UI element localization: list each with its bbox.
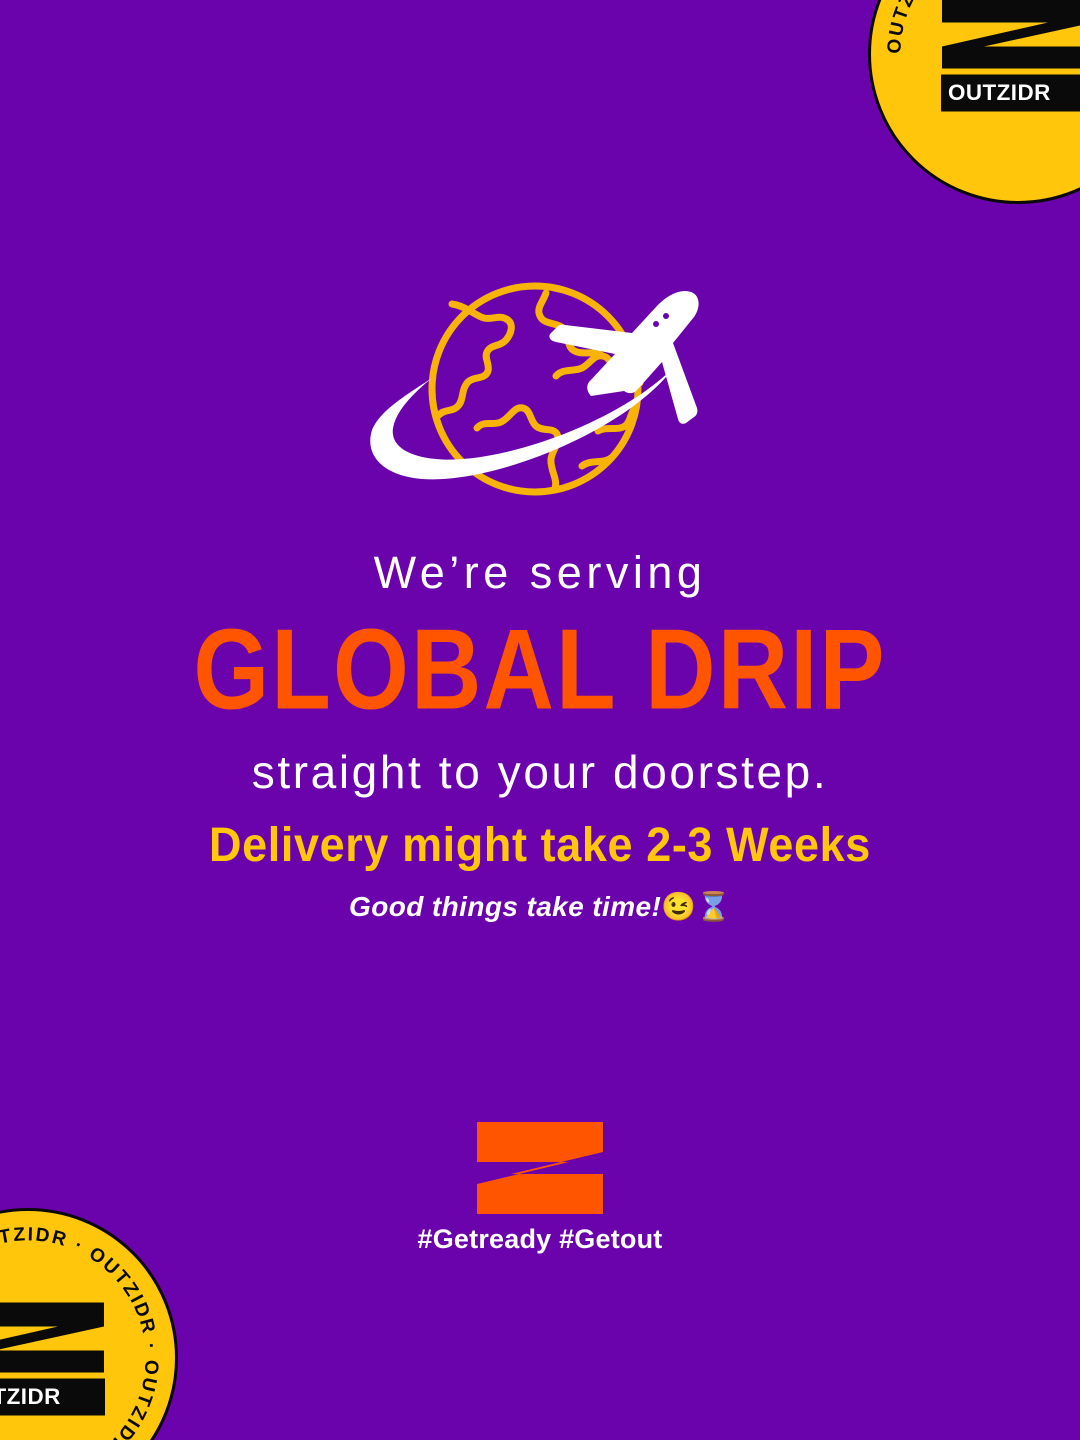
winking-face-emoji: 😉 bbox=[661, 891, 696, 922]
brand-stamp-badge-bottom-left: OUTZIDR · OUTZIDR · OUTZIDR · OUTZIDR · … bbox=[0, 1208, 178, 1440]
delivery-reassurance-line: Good things take time!😉⌛ bbox=[0, 893, 1080, 921]
delivery-notice-text: Delivery might take 2-3 Weeks bbox=[0, 820, 1080, 869]
badge-core-bottom-left: OUTZIDR bbox=[0, 1301, 116, 1416]
delivery-notice-block: Delivery might take 2-3 Weeks Good thing… bbox=[0, 822, 1080, 921]
z-logo-icon-badge-top-right bbox=[936, 0, 1080, 71]
badge-wordmark-label-bottom-left: OUTZIDR bbox=[0, 1384, 61, 1409]
eyebrow-text: We’re serving bbox=[0, 550, 1080, 595]
poster-canvas: OUTZIDR · OUTZIDR · OUTZIDR · OUTZIDR · … bbox=[0, 0, 1080, 1440]
airplane-icon bbox=[549, 291, 702, 424]
hashtags-text: #Getready #Getout bbox=[418, 1224, 663, 1255]
subline-text: straight to your doorstep. bbox=[0, 749, 1080, 795]
badge-wordmark-label-top-right: OUTZIDR bbox=[948, 80, 1051, 105]
headline-text: GLOBAL DRIP bbox=[0, 613, 1080, 727]
hourglass-emoji: ⌛ bbox=[696, 891, 731, 922]
z-logo-icon-badge-bottom-left bbox=[0, 1301, 110, 1375]
globe-airplane-illustration bbox=[360, 276, 720, 508]
badge-wordmark-top-right: OUTZIDR bbox=[941, 75, 1080, 112]
z-logo-icon-footer bbox=[477, 1122, 603, 1214]
badge-wordmark-bottom-left: OUTZIDR bbox=[0, 1379, 105, 1416]
brand-stamp-badge-top-right: OUTZIDR · OUTZIDR · OUTZIDR · OUTZIDR · … bbox=[868, 0, 1080, 204]
headline-copy-block: We’re serving GLOBAL DRIP straight to yo… bbox=[0, 550, 1080, 795]
badge-core-top-right: OUTZIDR bbox=[930, 0, 1080, 112]
delivery-reassurance-text: Good things take time! bbox=[349, 891, 661, 922]
